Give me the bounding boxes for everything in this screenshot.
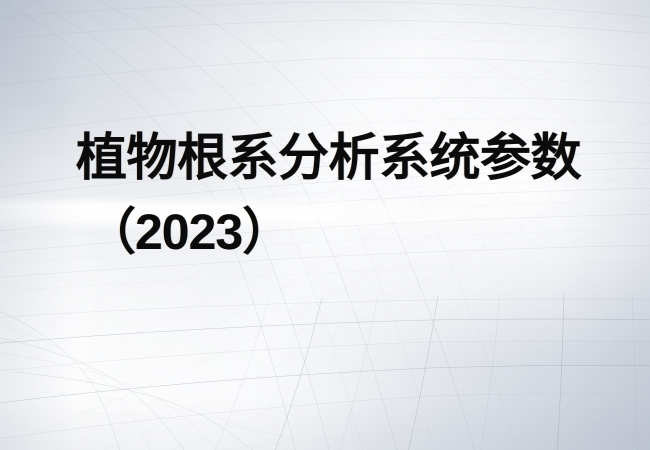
page-title-line-2: （2023） <box>0 207 650 257</box>
page-title-line-1: 植物根系分析系统参数 <box>0 132 650 183</box>
title-block: 植物根系分析系统参数 （2023） <box>0 132 650 257</box>
mesh-group-floor-rows <box>0 299 650 450</box>
mesh-group-floor-columns <box>206 294 638 450</box>
mesh-group-lower-swirl <box>0 300 366 450</box>
title-slide: 植物根系分析系统参数 （2023） <box>0 0 650 450</box>
